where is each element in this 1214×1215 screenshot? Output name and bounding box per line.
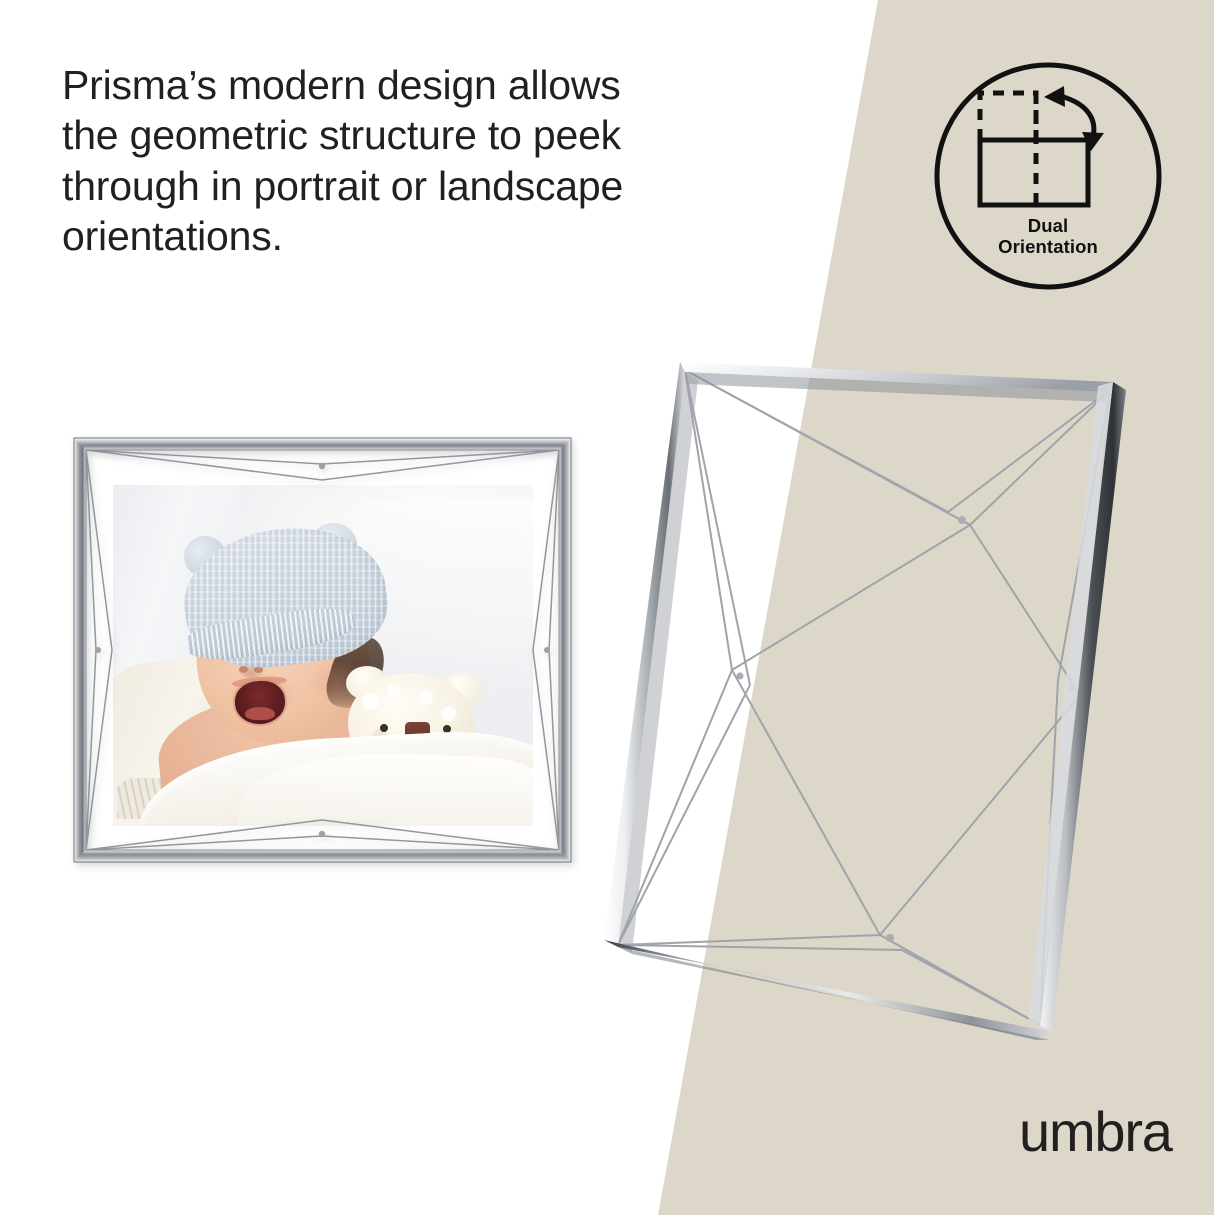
prisma-frame-landscape [70,436,575,864]
frame-wire-struts [86,450,559,850]
dual-orientation-badge: Dual Orientation [932,60,1164,292]
umbra-logo: umbra [1019,1104,1172,1160]
badge-label-line2: Orientation [932,237,1164,258]
prisma-frame-portrait-geometry [580,340,1160,1060]
prisma-frame-landscape-geometry [70,436,575,864]
prisma-frame-portrait [580,340,1160,1060]
marketing-image-canvas: Prisma’s modern design allows the geomet… [0,0,1214,1215]
badge-label-line1: Dual [932,216,1164,237]
portrait-frame-wire-struts [618,370,1110,1025]
page-title: Prisma’s modern design allows the geomet… [62,60,742,262]
frame-outer-border [74,438,571,862]
portrait-frame-wire-nodes [737,516,1076,942]
portrait-frame-outer-border [604,362,1126,1040]
badge-label: Dual Orientation [932,216,1164,257]
frame-wire-nodes [95,463,550,837]
